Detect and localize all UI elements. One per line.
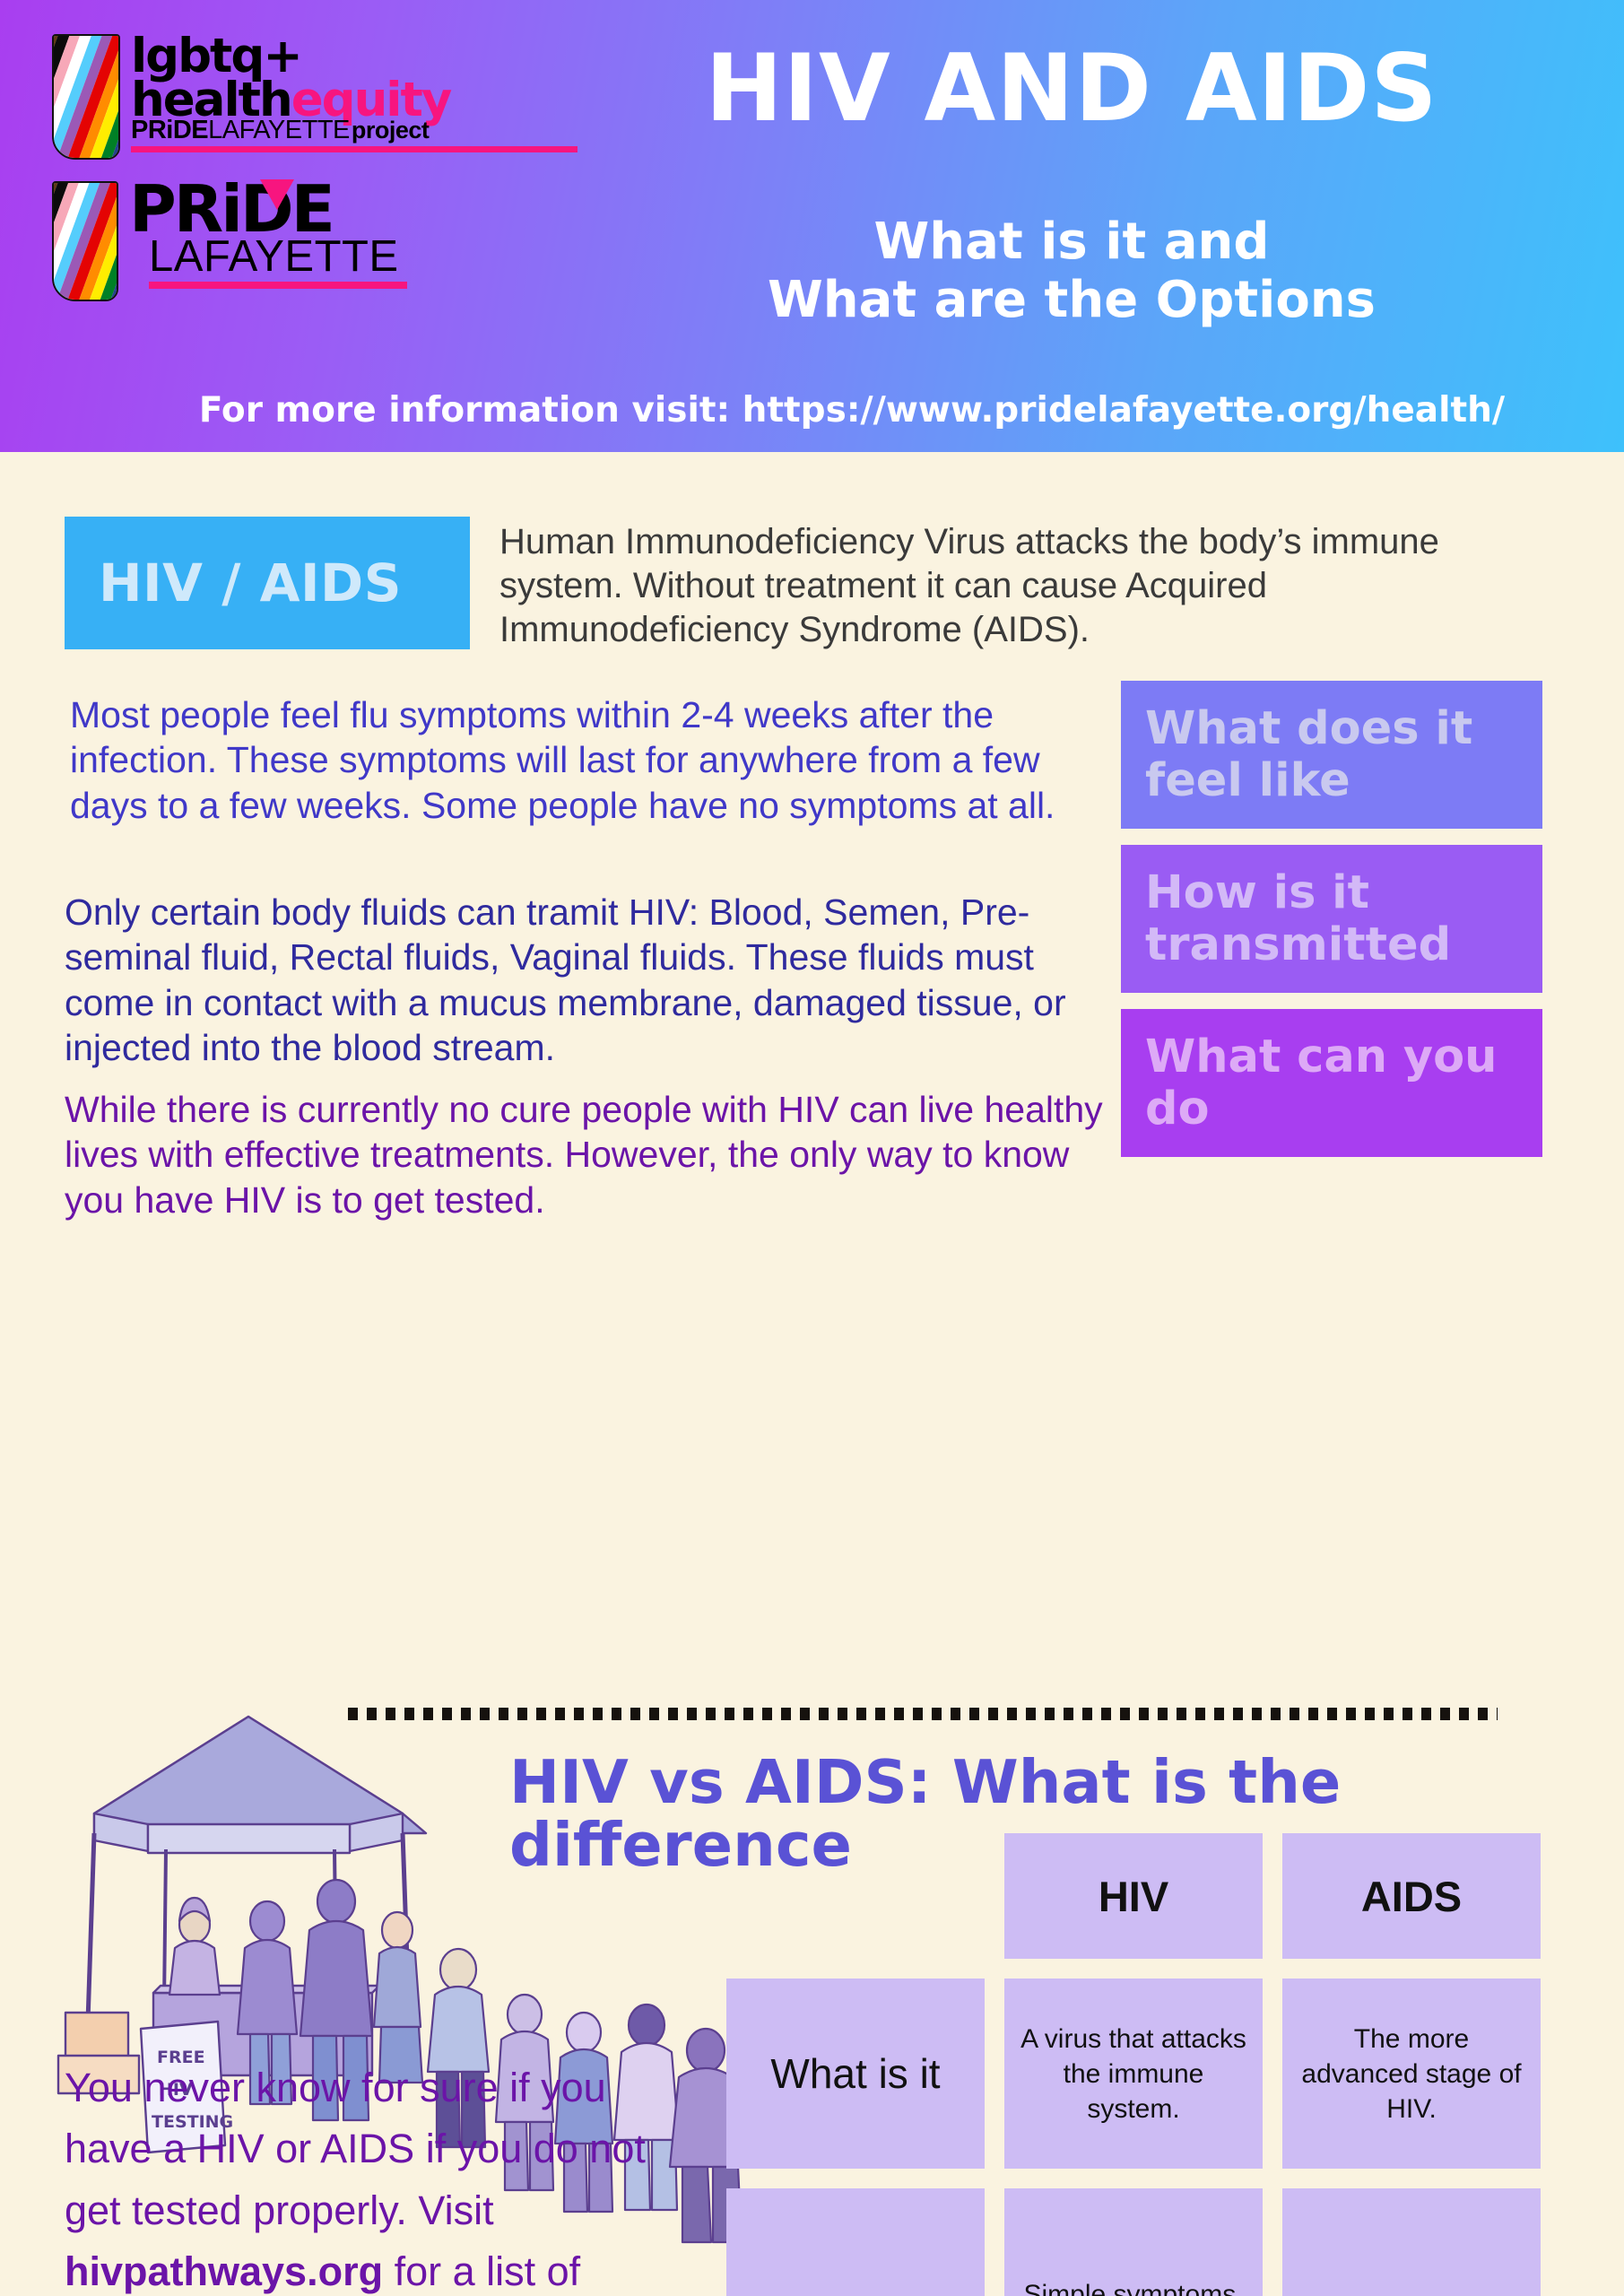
subtitle-line-1: What is it and (538, 213, 1605, 272)
logo-healthequity-line: healthequity (131, 79, 578, 122)
pride-pink-underline (149, 282, 407, 289)
pride-wordmark-text: PRiDE (129, 171, 333, 247)
pink-triangle-icon (260, 179, 294, 210)
logo-pride-word: PRiDE (131, 117, 208, 143)
hiv-aids-badge: HIV / AIDS (65, 517, 470, 649)
table-row-label-what-does-it-do: What does it do? (726, 2188, 985, 2296)
question-box-what-can-you-do-label: What can you do (1145, 1031, 1542, 1134)
fact-paragraph-symptoms: Most people feel flu symptoms within 2-4… (70, 692, 1110, 828)
subtitle-line-2: What are the Options (538, 272, 1605, 330)
logo-pridelafayette-line: PRiDE LAFAYETTE project (131, 117, 578, 143)
page-subtitle: What is it and What are the Options (538, 213, 1605, 330)
indiana-pride-flag-icon (52, 34, 120, 160)
hiv-aids-badge-label: HIV / AIDS (99, 552, 402, 613)
logo-lafayette-word: LAFAYETTE (208, 117, 350, 143)
table-header-aids: AIDS (1282, 1833, 1541, 1959)
page-title: HIV AND AIDS (538, 43, 1605, 135)
question-box-what-can-you-do: What can you do (1121, 1009, 1542, 1157)
indiana-pride-flag-icon-2 (52, 181, 118, 301)
table-corner-cell (726, 1833, 985, 1959)
logo-pink-underline (131, 146, 578, 152)
fact-paragraph-treatment: While there is currently no cure people … (65, 1087, 1105, 1222)
table-row: What does it do? Simple symptoms. but it… (726, 2188, 1541, 2296)
table-cell-hiv-what-does-it-do: Simple symptoms. but it will slowly take… (1004, 2188, 1263, 2296)
table-header-hiv: HIV (1004, 1833, 1263, 1959)
table-cell-aids-what-is-it: The more advanced stage of HIV. (1282, 1979, 1541, 2169)
hiv-aids-definition-row: HIV / AIDS Human Immunodeficiency Virus … (65, 517, 1571, 651)
logo-project-word: project (352, 118, 430, 143)
table-cell-aids-what-does-it-do: The immune system is badly damaged and i… (1282, 2188, 1541, 2296)
table-header-row: HIV AIDS (726, 1833, 1541, 1959)
table-cell-hiv-what-is-it: A virus that attacks the immune system. (1004, 1979, 1263, 2169)
closing-paragraph: You never know for sure if you have a HI… (65, 2057, 683, 2296)
hivpathways-link[interactable]: hivpathways.org (65, 2248, 383, 2294)
pride-wordmark: PRiDE (129, 181, 407, 238)
hiv-aids-comparison-table: HIV AIDS What is it A virus that attacks… (726, 1833, 1541, 2296)
hiv-aids-description: Human Immunodeficiency Virus attacks the… (499, 517, 1531, 651)
more-information-url[interactable]: For more information visit: https://www.… (99, 390, 1605, 430)
table-row: What is it A virus that attacks the immu… (726, 1979, 1541, 2169)
question-box-transmitted-label: How is it transmitted (1145, 867, 1542, 970)
fact-paragraph-transmission: Only certain body fluids can tramit HIV:… (65, 890, 1105, 1071)
question-box-feel-like-label: What does it feel like (1145, 703, 1542, 805)
header-banner: lgbtq+ healthequity PRiDE LAFAYETTE proj… (0, 0, 1624, 452)
table-row-label-what-is-it: What is it (726, 1979, 985, 2169)
question-box-feel-like: What does it feel like (1121, 681, 1542, 829)
logo-lgbtq-line: lgbtq+ (131, 36, 578, 77)
question-box-transmitted: How is it transmitted (1121, 845, 1542, 993)
infographic-page: lgbtq+ healthequity PRiDE LAFAYETTE proj… (0, 0, 1624, 2296)
closing-text-before: You never know for sure if you have a HI… (65, 2065, 646, 2233)
